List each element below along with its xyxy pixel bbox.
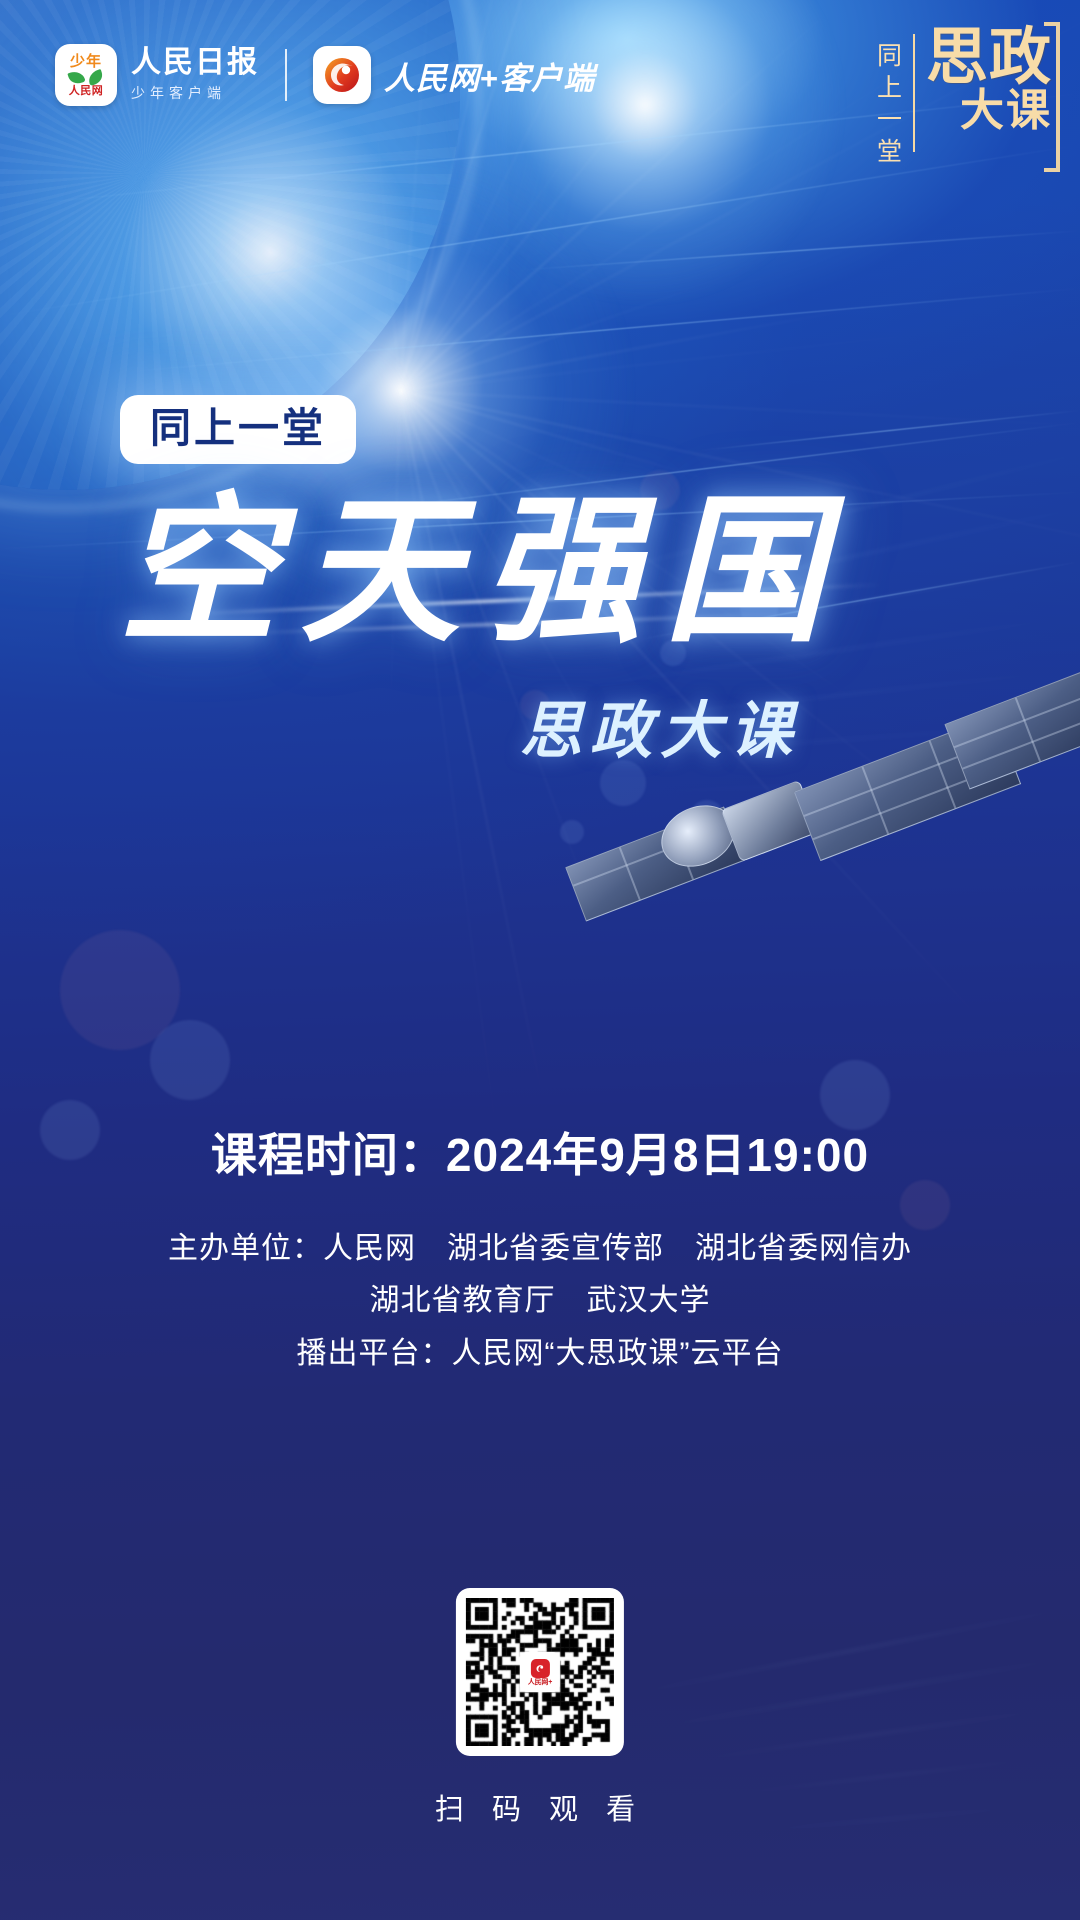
course-time-label: 课程时间： xyxy=(211,1129,446,1181)
sprout-icon xyxy=(69,71,103,85)
people-cn-brand[interactable]: 人民网+客户端 xyxy=(313,46,595,104)
people-cn-app-icon xyxy=(313,46,371,104)
organizer-line-1: 湖北省教育厅 武汉大学 xyxy=(0,1275,1080,1328)
qr-center-logo: 人民网+ xyxy=(520,1652,560,1692)
corner-badge-vertical-text: 同 上 一 堂 xyxy=(877,28,902,165)
peoples-daily-brand[interactable]: 少年 人民网 人民日报 少年客户端 xyxy=(55,44,259,106)
qr-section: 人民网+ 扫 码 观 看 xyxy=(435,1588,645,1828)
people-cn-logo-icon-small xyxy=(530,1659,549,1678)
page-title: 空天强国 xyxy=(118,490,988,650)
corner-badge-small-text: 大课 xyxy=(960,89,1052,133)
hero-pill-label: 同上一堂 xyxy=(120,395,356,464)
peoples-daily-app-icon: 少年 人民网 xyxy=(55,44,117,106)
people-cn-client: 客户端 xyxy=(499,61,595,96)
people-cn-name: 人民网 xyxy=(384,61,480,96)
organizer-block: 主办单位：人民网 湖北省委宣传部 湖北省委网信办 湖北省教育厅 武汉大学 播出平… xyxy=(0,1223,1080,1381)
course-time-row: 课程时间：2024年9月8日19:00 xyxy=(0,1130,1080,1181)
satellite-graphic xyxy=(560,745,1080,975)
corner-badge-char-1: 上 xyxy=(877,76,902,101)
corner-badge: 同 上 一 堂 思政 大课 xyxy=(877,28,1052,168)
corner-badge-char-0: 同 xyxy=(877,44,902,69)
corner-badge-big-text: 思政 xyxy=(926,28,1052,85)
course-time-value: 2024年9月8日19:00 xyxy=(446,1129,869,1181)
qr-logo-text: 人民网+ xyxy=(528,1679,552,1686)
header-divider xyxy=(285,49,287,101)
peoples-daily-mark-label: 人民网 xyxy=(69,86,104,97)
organizer-line-2: 播出平台：人民网“大思政课”云平台 xyxy=(0,1328,1080,1381)
corner-badge-main: 思政 大课 xyxy=(926,28,1052,133)
sprout-icon-top-label: 少年 xyxy=(70,54,102,69)
corner-badge-char-3: 堂 xyxy=(877,140,902,165)
organizer-line-0: 主办单位：人民网 湖北省委宣传部 湖北省委网信办 xyxy=(0,1223,1080,1276)
people-cn-wordmark: 人民网+客户端 xyxy=(384,53,595,98)
people-cn-logo-icon xyxy=(322,55,362,95)
qr-caption: 扫 码 观 看 xyxy=(435,1786,645,1828)
qr-code[interactable]: 人民网+ xyxy=(456,1588,624,1756)
corner-badge-frame xyxy=(1044,22,1060,172)
peoples-daily-name: 人民日报 xyxy=(131,47,259,79)
info-block: 课程时间：2024年9月8日19:00 主办单位：人民网 湖北省委宣传部 湖北省… xyxy=(0,1130,1080,1380)
people-cn-plus: + xyxy=(480,61,499,96)
peoples-daily-sub: 少年客户端 xyxy=(131,83,259,103)
poster-root: 少年 人民网 人民日报 少年客户端 xyxy=(0,0,1080,1920)
peoples-daily-text: 人民日报 少年客户端 xyxy=(131,47,259,104)
corner-badge-separator xyxy=(913,34,915,152)
corner-badge-char-2: 一 xyxy=(877,108,902,133)
